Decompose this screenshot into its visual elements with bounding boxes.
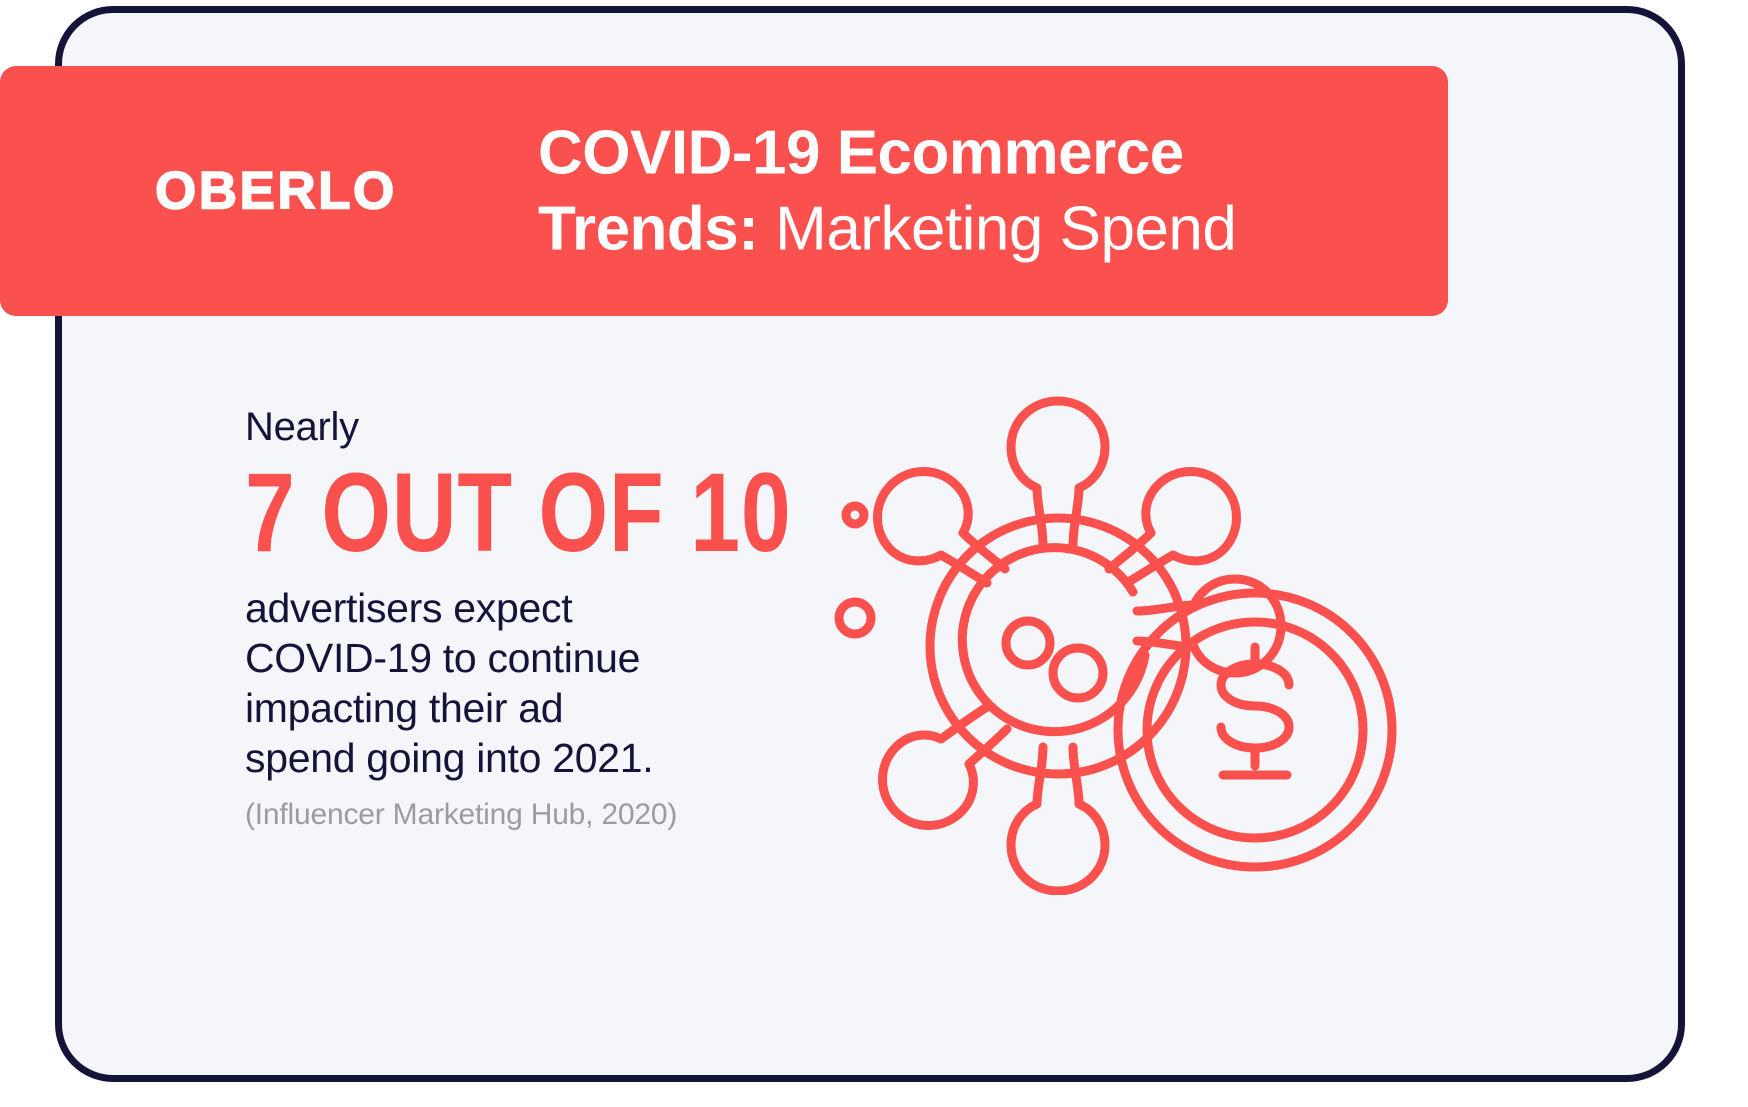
stat-citation: (Influencer Marketing Hub, 2020)	[245, 795, 865, 834]
stat-body-line-3: impacting their ad	[245, 683, 865, 733]
virus-particle-left	[839, 602, 871, 634]
stat-body-copy: advertisers expect COVID-19 to continue …	[245, 583, 865, 783]
virus-dot-large	[1006, 621, 1050, 665]
stat-body-line-1: advertisers expect	[245, 583, 865, 633]
stat-headline: 7 OUT OF 10	[245, 457, 741, 569]
page-title-bold-part-1: COVID-19 Ecommerce	[538, 118, 1184, 187]
infographic-root: OBERLO COVID-19 Ecommerce Trends: Market…	[0, 0, 1748, 1107]
illustration-group	[815, 355, 1445, 895]
page-title: COVID-19 Ecommerce Trends: Marketing Spe…	[538, 115, 1236, 266]
oberlo-logo: OBERLO	[155, 161, 397, 222]
page-title-line-2: Trends: Marketing Spend	[538, 191, 1236, 267]
page-title-line-1: COVID-19 Ecommerce	[538, 115, 1236, 191]
stat-kicker: Nearly	[245, 405, 865, 449]
virus-particle-left-small	[846, 506, 864, 524]
header-banner: OBERLO COVID-19 Ecommerce Trends: Market…	[0, 66, 1448, 316]
coronavirus-icon	[839, 401, 1281, 891]
stat-block: Nearly 7 OUT OF 10 advertisers expect CO…	[245, 405, 865, 834]
page-title-bold-part-2: Trends:	[538, 194, 758, 263]
stat-body-line-4: spend going into 2021.	[245, 733, 865, 783]
stat-body-line-2: COVID-19 to continue	[245, 633, 865, 683]
page-title-light-part: Marketing Spend	[775, 194, 1236, 263]
virus-dot-small	[1053, 648, 1103, 698]
